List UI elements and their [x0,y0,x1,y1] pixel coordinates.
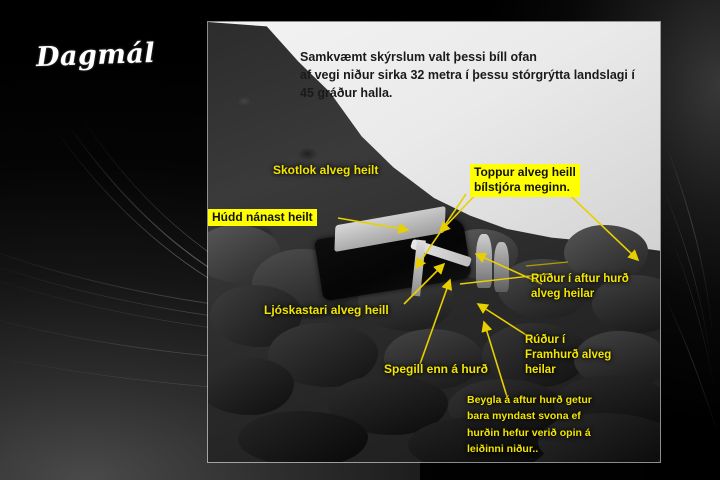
bystander-1 [476,234,492,288]
annotation-hudd: Húdd nánast heilt [208,209,317,226]
annotation-toppur: Toppur alveg heill bílstjóra meginn. [470,164,580,197]
wrecked-vehicle [318,212,468,298]
annotation-spegill: Spegill enn á hurð [384,362,488,378]
annotation-beygla: Beygla á aftur hurð getur bara myndast s… [467,392,592,457]
annotation-rudur-aftur: Rúður í aftur hurð alveg heilar [531,272,629,302]
annotation-ljoskastari: Ljóskastari alveg heill [264,303,389,319]
intro-paragraph: Samkvæmt skýrslum valt þessi bíll ofan a… [300,48,635,102]
annotation-skotlok: Skotlok alveg heilt [273,163,378,179]
brand-logo: Dagmál [35,38,155,73]
annotation-rudur-fram: Rúður í Framhurð alveg heilar [525,333,611,378]
slide-stage: Dagmál [0,0,720,480]
bystander-2 [494,242,509,292]
